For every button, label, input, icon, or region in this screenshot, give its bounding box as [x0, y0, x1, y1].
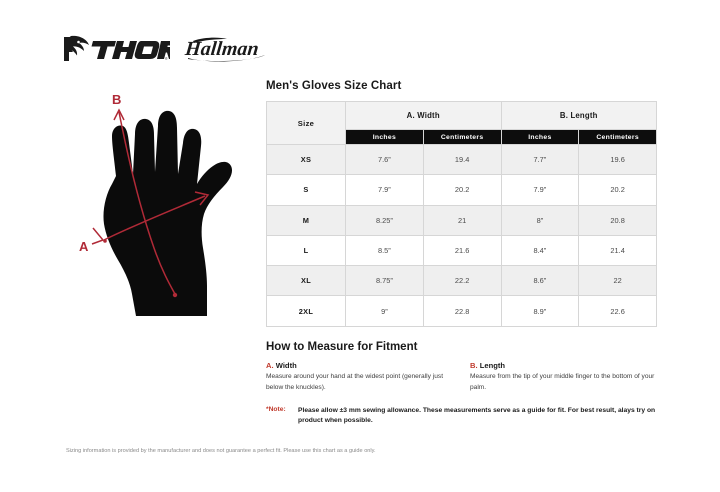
table-row: 2XL 9” 22.8 8.9” 22.6 — [267, 296, 657, 326]
hallman-logo: Hallman — [184, 33, 272, 70]
measure-width-text: Measure around your hand at the widest p… — [266, 372, 452, 392]
how-to-measure-section: How to Measure for Fitment A. Width Meas… — [266, 341, 658, 393]
table-row: M 8.25” 21 8” 20.8 — [267, 205, 657, 235]
cell-length-inches: 8.6” — [501, 266, 579, 296]
cell-size: 2XL — [267, 296, 346, 326]
cell-size: XS — [267, 145, 346, 175]
diagram-label-a: A — [79, 239, 89, 254]
cell-length-inches: 8.4” — [501, 235, 579, 265]
brand-logo-bar: ® Hallman — [62, 30, 272, 72]
measure-length-letter: B. — [470, 361, 478, 370]
cell-width-cm: 19.4 — [423, 145, 501, 175]
measure-point-b — [173, 293, 177, 297]
measure-instruction-width: A. Width Measure around your hand at the… — [266, 361, 452, 393]
column-header-width-centimeters: Centimeters — [423, 130, 501, 145]
cell-length-cm: 22 — [579, 266, 657, 296]
table-row: XL 8.75” 22.2 8.6” 22 — [267, 266, 657, 296]
thor-logo: ® — [62, 34, 170, 69]
how-to-measure-title: How to Measure for Fitment — [266, 341, 658, 353]
column-header-size: Size — [267, 102, 346, 145]
cell-length-cm: 21.4 — [579, 235, 657, 265]
cell-width-inches: 7.9” — [346, 175, 424, 205]
size-chart-content: Men's Gloves Size Chart Size A. Width B.… — [266, 80, 658, 426]
page-title: Men's Gloves Size Chart — [266, 80, 658, 92]
cell-length-cm: 22.6 — [579, 296, 657, 326]
diagram-label-b: B — [112, 92, 121, 107]
table-head: Size A. Width B. Length Inches Centimete… — [267, 102, 657, 145]
table-body: XS 7.6” 19.4 7.7” 19.6 S 7.9” 20.2 7.9” … — [267, 145, 657, 327]
cell-length-inches: 7.7” — [501, 145, 579, 175]
cell-size: S — [267, 175, 346, 205]
hand-silhouette — [103, 111, 232, 316]
measure-length-label: B. Length — [470, 361, 656, 370]
cell-width-inches: 8.75” — [346, 266, 424, 296]
table-row: S 7.9” 20.2 7.9” 20.2 — [267, 175, 657, 205]
column-group-header-width: A. Width — [346, 102, 502, 130]
cell-length-cm: 20.8 — [579, 205, 657, 235]
measure-arrow-a-left — [92, 228, 103, 244]
column-header-width-inches: Inches — [346, 130, 424, 145]
column-header-length-inches: Inches — [501, 130, 579, 145]
measure-width-letter: A. — [266, 361, 274, 370]
measure-width-label: A. Width — [266, 361, 452, 370]
note-text: Please allow ±3 mm sewing allowance. The… — [298, 406, 658, 427]
measure-point-a — [103, 239, 107, 243]
hand-measurement-diagram: A B — [62, 88, 262, 328]
measure-width-name: Width — [276, 361, 297, 370]
cell-width-inches: 7.6” — [346, 145, 424, 175]
svg-text:®: ® — [165, 57, 168, 61]
size-chart-table: Size A. Width B. Length Inches Centimete… — [266, 101, 657, 327]
table-row: XS 7.6” 19.4 7.7” 19.6 — [267, 145, 657, 175]
column-group-header-length: B. Length — [501, 102, 657, 130]
cell-width-cm: 22.2 — [423, 266, 501, 296]
cell-width-cm: 22.8 — [423, 296, 501, 326]
table-row: L 8.5” 21.6 8.4” 21.4 — [267, 235, 657, 265]
footer-disclaimer: Sizing information is provided by the ma… — [66, 447, 396, 457]
cell-width-cm: 21.6 — [423, 235, 501, 265]
note-label: *Note: — [266, 406, 298, 413]
cell-length-inches: 8” — [501, 205, 579, 235]
measure-length-text: Measure from the tip of your middle fing… — [470, 372, 656, 392]
cell-width-inches: 8.25” — [346, 205, 424, 235]
cell-width-cm: 21 — [423, 205, 501, 235]
cell-width-inches: 8.5” — [346, 235, 424, 265]
cell-length-inches: 8.9” — [501, 296, 579, 326]
column-header-length-centimeters: Centimeters — [579, 130, 657, 145]
cell-width-inches: 9” — [346, 296, 424, 326]
cell-length-cm: 20.2 — [579, 175, 657, 205]
cell-size: M — [267, 205, 346, 235]
note-row: *Note: Please allow ±3 mm sewing allowan… — [266, 406, 658, 427]
cell-width-cm: 20.2 — [423, 175, 501, 205]
cell-size: XL — [267, 266, 346, 296]
cell-length-cm: 19.6 — [579, 145, 657, 175]
cell-length-inches: 7.9” — [501, 175, 579, 205]
measure-instruction-length: B. Length Measure from the tip of your m… — [470, 361, 656, 393]
cell-size: L — [267, 235, 346, 265]
table-head-row-groups: Size A. Width B. Length — [267, 102, 657, 130]
measure-length-name: Length — [480, 361, 505, 370]
